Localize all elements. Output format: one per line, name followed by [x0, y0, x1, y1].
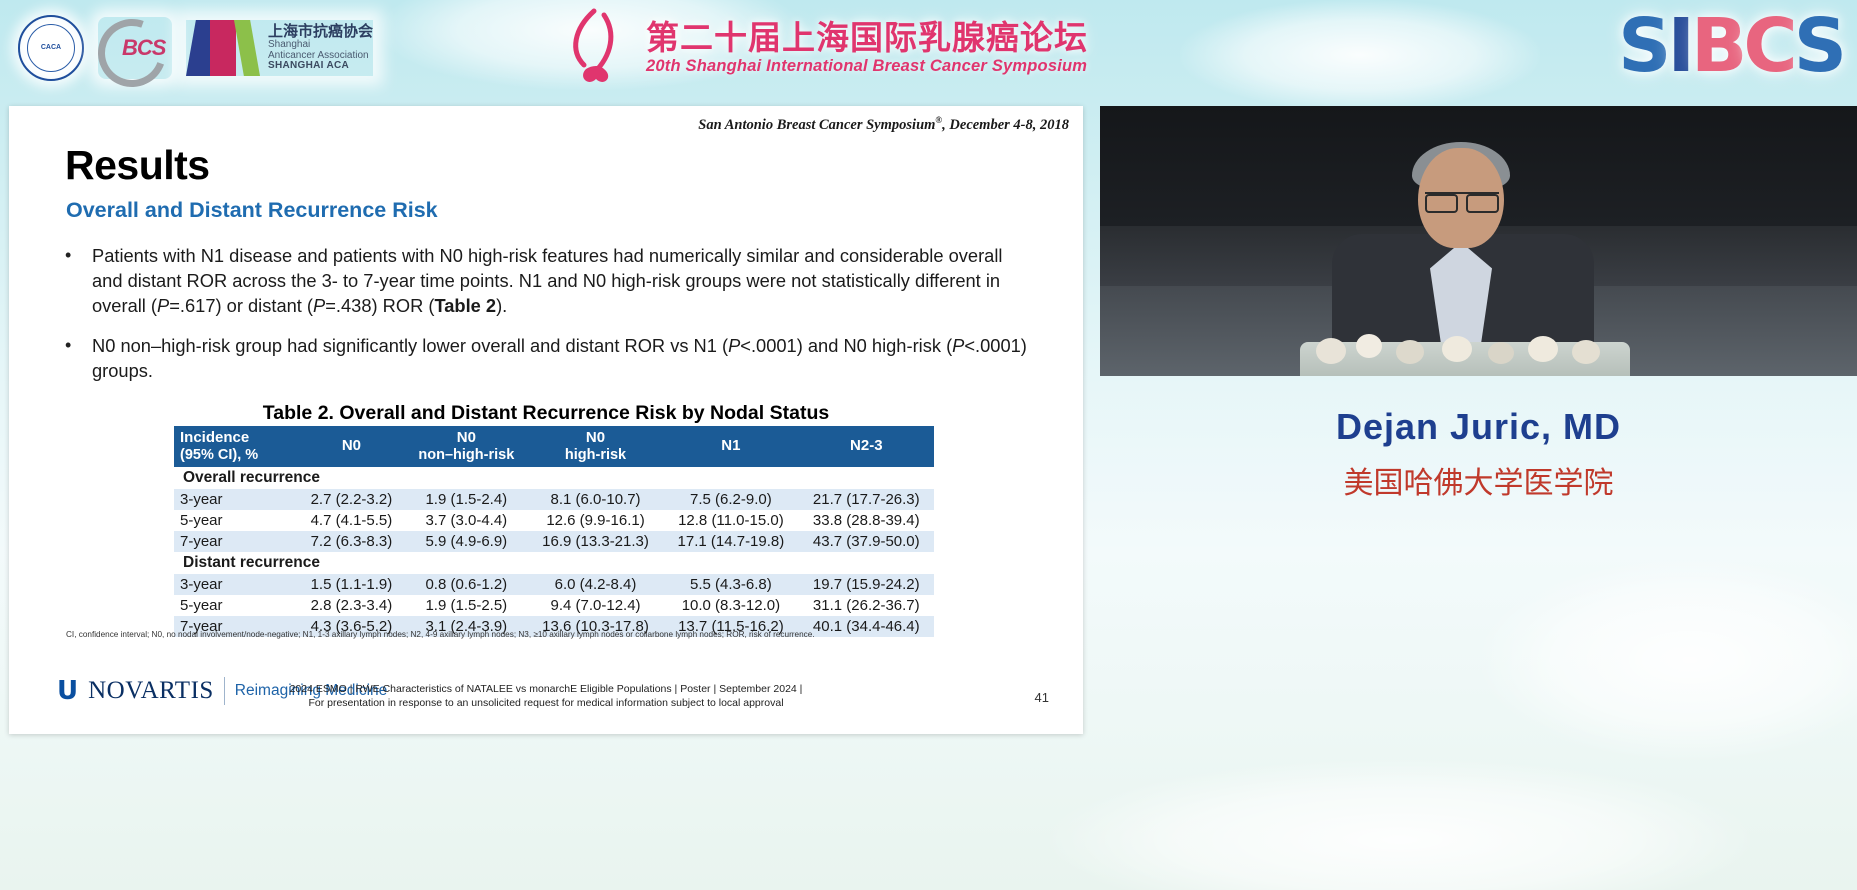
table-row: 5-year4.7 (4.1-5.5)3.7 (3.0-4.4)12.6 (9.…: [174, 510, 934, 531]
table-cell: 12.8 (11.0-15.0): [663, 510, 798, 531]
table-column-header: N0high-risk: [528, 426, 663, 467]
table-header-row: Incidence(95% CI), %N0N0non–high-riskN0h…: [174, 426, 934, 467]
speaker-affiliation: 美国哈佛大学医学院: [1100, 458, 1857, 502]
list-item: • N0 non–high-risk group had significant…: [65, 333, 1030, 383]
table-cell: 0.8 (0.6-1.2): [405, 574, 528, 595]
speaker-name: Dejan Juric, MD: [1100, 406, 1857, 448]
bullet-marker-icon: •: [65, 333, 92, 383]
slide-page-number: 41: [1035, 690, 1049, 705]
symposium-title-cn: 第二十届上海国际乳腺癌论坛: [646, 21, 1088, 54]
table-section-label: Distant recurrence: [174, 552, 934, 574]
table-cell: 8.1 (6.0-10.7): [528, 489, 663, 510]
table-section-label: Overall recurrence: [174, 467, 934, 489]
bullet-list: • Patients with N1 disease and patients …: [65, 243, 1030, 397]
table-row-label: 3-year: [174, 574, 298, 595]
table-cell: 19.7 (15.9-24.2): [799, 574, 934, 595]
symposium-title-en: 20th Shanghai International Breast Cance…: [646, 58, 1088, 75]
footer-line-1: 2024 ESMO | RWE Characteristics of NATAL…: [9, 682, 1083, 696]
glasses-icon: [1425, 192, 1499, 209]
list-item: • Patients with N1 disease and patients …: [65, 243, 1030, 319]
shanghai-aca-text: 上海市抗癌协会 Shanghai Anticancer Association …: [268, 24, 373, 73]
table-head: Incidence(95% CI), %N0N0non–high-riskN0h…: [174, 426, 934, 467]
table-row-label: 3-year: [174, 489, 298, 510]
shanghai-aca-en3: SHANGHAI ACA: [268, 61, 373, 72]
sibcs-letter-s2: S: [1794, 3, 1843, 89]
table-cell: 31.1 (26.2-36.7): [799, 595, 934, 616]
conference-attribution: San Antonio Breast Cancer Symposium®, De…: [698, 115, 1069, 134]
table-footnote: CI, confidence interval; N0, no nodal in…: [66, 630, 1056, 641]
conference-attribution-name: San Antonio Breast Cancer Symposium: [698, 117, 935, 133]
presentation-slide[interactable]: San Antonio Breast Cancer Symposium®, De…: [9, 106, 1083, 734]
aca-monogram-icon: [186, 20, 260, 76]
table-row: 3-year1.5 (1.1-1.9)0.8 (0.6-1.2)6.0 (4.2…: [174, 574, 934, 595]
table-cell: 2.8 (2.3-3.4): [298, 595, 405, 616]
slide-subtitle: Overall and Distant Recurrence Risk: [66, 198, 438, 223]
table-cell: 7.5 (6.2-9.0): [663, 489, 798, 510]
results-table: Incidence(95% CI), %N0N0non–high-riskN0h…: [174, 426, 934, 637]
shanghai-aca-logo: 上海市抗癌协会 Shanghai Anticancer Association …: [186, 20, 373, 76]
table-cell: 1.9 (1.5-2.4): [405, 489, 528, 510]
table-cell: 4.7 (4.1-5.5): [298, 510, 405, 531]
table-body: Overall recurrence3-year2.7 (2.2-3.2)1.9…: [174, 467, 934, 637]
breast-cancer-ribbon-icon: [560, 7, 634, 89]
results-table-wrapper: Incidence(95% CI), %N0N0non–high-riskN0h…: [174, 426, 934, 637]
table-column-header: N0: [298, 426, 405, 467]
table-column-header: Incidence(95% CI), %: [174, 426, 298, 467]
china-anticancer-association-logo: CACA: [18, 15, 84, 81]
bullet-text-2: N0 non–high-risk group had significantly…: [92, 333, 1030, 383]
caca-logo-inner: CACA: [27, 24, 75, 72]
table-cell: 21.7 (17.7-26.3): [799, 489, 934, 510]
table-cell: 16.9 (13.3-21.3): [528, 531, 663, 552]
sibcs-letter-c: C: [1743, 3, 1793, 89]
conference-attribution-date: , December 4-8, 2018: [942, 117, 1069, 133]
footer-disclaimer: 2024 ESMO | RWE Characteristics of NATAL…: [9, 682, 1083, 710]
slide-footer: U NOVARTIS Reimagining Medicine 2024 ESM…: [9, 668, 1083, 724]
bcs-logo: BCS: [98, 17, 172, 79]
table-cell: 12.6 (9.9-16.1): [528, 510, 663, 531]
table-row: 3-year2.7 (2.2-3.2)1.9 (1.5-2.4)8.1 (6.0…: [174, 489, 934, 510]
bullet-text-1: Patients with N1 disease and patients wi…: [92, 243, 1030, 319]
speaker-video-feed[interactable]: [1100, 106, 1857, 376]
table-cell: 5.5 (4.3-6.8): [663, 574, 798, 595]
table-cell: 3.7 (3.0-4.4): [405, 510, 528, 531]
table-cell: 1.5 (1.1-1.9): [298, 574, 405, 595]
shanghai-aca-cn: 上海市抗癌协会: [268, 24, 373, 40]
table-column-header: N0non–high-risk: [405, 426, 528, 467]
table-section-row: Overall recurrence: [174, 467, 934, 489]
sibcs-letter-s1: S: [1618, 3, 1667, 89]
sponsor-logo-row: CACA BCS 上海市抗癌协会 Shanghai Anticancer Ass…: [18, 4, 373, 92]
table-row-label: 5-year: [174, 510, 298, 531]
table-cell: 2.7 (2.2-3.2): [298, 489, 405, 510]
table-column-header: N1: [663, 426, 798, 467]
table-row-label: 5-year: [174, 595, 298, 616]
table-caption: Table 2. Overall and Distant Recurrence …: [9, 402, 1083, 425]
table-section-row: Distant recurrence: [174, 552, 934, 574]
sibcs-brand-logo: S I B C S: [1618, 6, 1843, 86]
slide-title: Results: [65, 142, 210, 189]
table-cell: 5.9 (4.9-6.9): [405, 531, 528, 552]
bcs-logo-label: BCS: [122, 35, 165, 61]
table-cell: 9.4 (7.0-12.4): [528, 595, 663, 616]
sibcs-letter-b: B: [1691, 3, 1743, 89]
table-column-header: N2-3: [799, 426, 934, 467]
speaker-panel: Dejan Juric, MD 美国哈佛大学医学院: [1100, 106, 1857, 890]
table-row-label: 7-year: [174, 531, 298, 552]
footer-line-2: For presentation in response to an unsol…: [9, 696, 1083, 710]
symposium-titles: 第二十届上海国际乳腺癌论坛 20th Shanghai Internationa…: [646, 21, 1088, 75]
table-cell: 43.7 (37.9-50.0): [799, 531, 934, 552]
table-row: 5-year2.8 (2.3-3.4)1.9 (1.5-2.5)9.4 (7.0…: [174, 595, 934, 616]
table-row: 7-year7.2 (6.3-8.3)5.9 (4.9-6.9)16.9 (13…: [174, 531, 934, 552]
table-cell: 17.1 (14.7-19.8): [663, 531, 798, 552]
screen: CACA BCS 上海市抗癌协会 Shanghai Anticancer Ass…: [0, 0, 1857, 890]
table-cell: 6.0 (4.2-8.4): [528, 574, 663, 595]
table-cell: 33.8 (28.8-39.4): [799, 510, 934, 531]
flower-arrangement: [1310, 330, 1622, 376]
table-cell: 10.0 (8.3-12.0): [663, 595, 798, 616]
sibcs-letter-i: I: [1667, 3, 1691, 89]
symposium-title-block: 第二十届上海国际乳腺癌论坛 20th Shanghai Internationa…: [560, 2, 1088, 94]
table-cell: 1.9 (1.5-2.5): [405, 595, 528, 616]
table-cell: 7.2 (6.3-8.3): [298, 531, 405, 552]
bullet-marker-icon: •: [65, 243, 92, 319]
event-header-banner: CACA BCS 上海市抗癌协会 Shanghai Anticancer Ass…: [0, 0, 1857, 96]
